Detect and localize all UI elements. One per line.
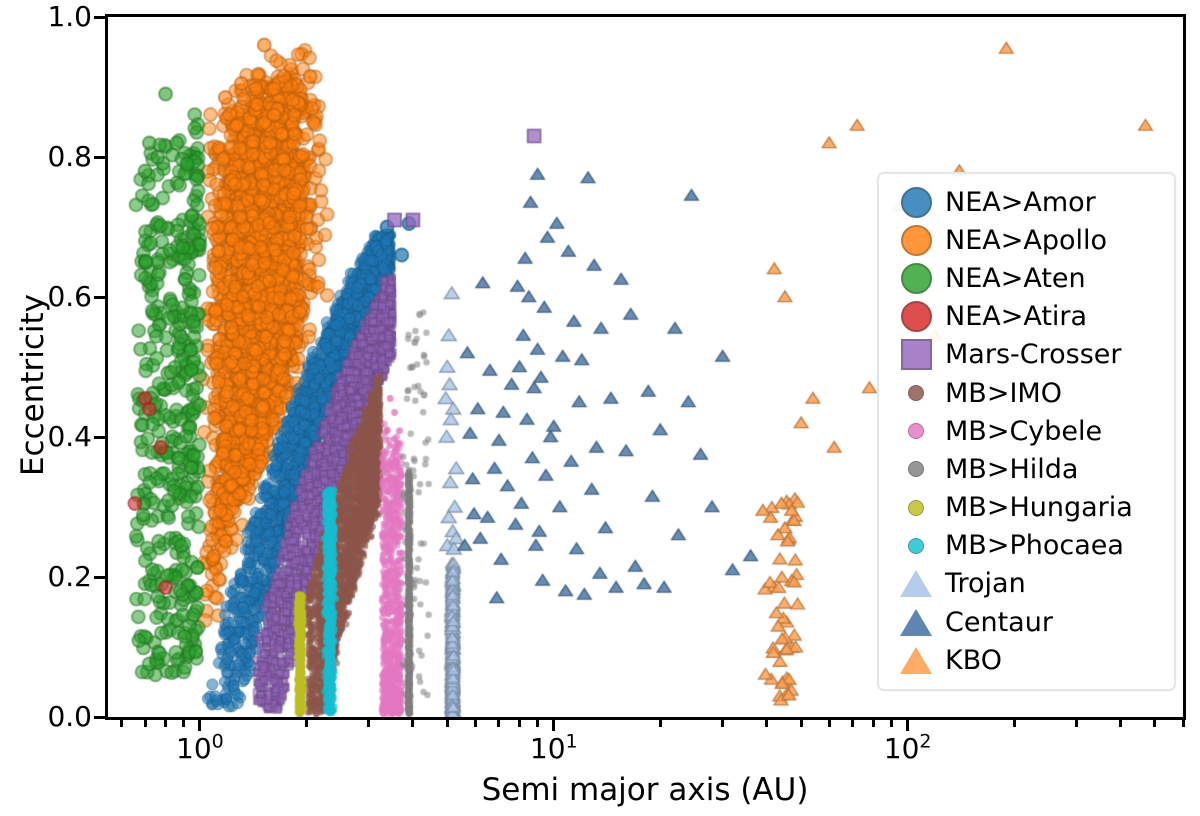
x-tick-minor xyxy=(536,720,539,727)
legend-item-mb-phocaea[interactable]: MB>Phocaea xyxy=(889,527,1164,565)
circle-marker-icon xyxy=(889,423,943,439)
x-tick-minor xyxy=(446,720,449,727)
legend-item-mb-hilda[interactable]: MB>Hilda xyxy=(889,450,1164,488)
legend-label: MB>Hungaria xyxy=(943,494,1133,521)
legend[interactable]: NEA>AmorNEA>ApolloNEA>AtenNEA>AtiraMars-… xyxy=(877,172,1176,691)
y-tick-label: 0.0 xyxy=(47,703,92,731)
legend-label: MB>Phocaea xyxy=(943,532,1124,559)
circle-marker-icon xyxy=(889,538,943,554)
y-tick-major xyxy=(94,296,105,299)
circle-marker-icon xyxy=(889,500,943,516)
x-tick-minor xyxy=(164,720,167,727)
x-tick-minor xyxy=(411,720,414,727)
x-tick-minor xyxy=(182,720,185,727)
y-tick-label: 0.2 xyxy=(47,563,92,591)
x-tick-minor xyxy=(305,720,308,727)
y-tick-label: 0.6 xyxy=(47,283,92,311)
x-tick-minor xyxy=(518,720,521,727)
legend-label: NEA>Amor xyxy=(943,189,1096,216)
legend-label: Mars-Crosser xyxy=(943,341,1121,368)
x-tick-minor xyxy=(800,720,803,727)
y-tick-major xyxy=(94,576,105,579)
legend-item-centaur[interactable]: Centaur xyxy=(889,603,1164,641)
x-tick-minor xyxy=(1119,720,1122,727)
x-tick-minor xyxy=(1013,720,1016,727)
legend-item-nea-atira[interactable]: NEA>Atira xyxy=(889,298,1164,336)
legend-item-nea-apollo[interactable]: NEA>Apollo xyxy=(889,221,1164,259)
circle-marker-icon xyxy=(889,301,943,332)
x-tick-label: 101 xyxy=(530,735,578,763)
y-tick-major xyxy=(94,716,105,719)
x-tick-minor xyxy=(144,720,147,727)
triangle-marker-icon xyxy=(889,570,943,597)
legend-label: MB>Cybele xyxy=(943,418,1102,445)
legend-label: Trojan xyxy=(943,570,1026,597)
y-axis-label: Eccentricity xyxy=(15,185,51,585)
x-tick-major xyxy=(906,720,909,731)
triangle-marker-icon xyxy=(889,609,943,636)
x-tick-minor xyxy=(474,720,477,727)
legend-item-mb-imo[interactable]: MB>IMO xyxy=(889,374,1164,412)
circle-marker-icon xyxy=(889,263,943,294)
triangle-marker-icon xyxy=(889,647,943,674)
legend-label: Centaur xyxy=(943,609,1053,636)
x-tick-minor xyxy=(872,720,875,727)
x-tick-minor xyxy=(120,720,123,727)
x-tick-major xyxy=(198,720,201,731)
square-marker-icon xyxy=(889,339,943,370)
x-tick-minor xyxy=(851,720,854,727)
legend-item-mars-crosser[interactable]: Mars-Crosser xyxy=(889,336,1164,374)
x-tick-minor xyxy=(497,720,500,727)
x-tick-minor xyxy=(367,720,370,727)
y-tick-major xyxy=(94,16,105,19)
legend-item-trojan[interactable]: Trojan xyxy=(889,565,1164,603)
y-tick-label: 0.8 xyxy=(47,143,92,171)
x-tick-minor xyxy=(1075,720,1078,727)
legend-item-nea-aten[interactable]: NEA>Aten xyxy=(889,259,1164,297)
y-tick-label: 0.4 xyxy=(47,423,92,451)
x-tick-label: 102 xyxy=(884,735,932,763)
legend-label: NEA>Aten xyxy=(943,265,1086,292)
legend-label: MB>Hilda xyxy=(943,456,1078,483)
legend-label: MB>IMO xyxy=(943,380,1062,407)
x-tick-label: 100 xyxy=(176,735,224,763)
legend-label: KBO xyxy=(943,647,1002,674)
x-tick-minor xyxy=(659,720,662,727)
circle-marker-icon xyxy=(889,225,943,256)
legend-label: NEA>Apollo xyxy=(943,227,1107,254)
y-tick-major xyxy=(94,156,105,159)
legend-item-kbo[interactable]: KBO xyxy=(889,641,1164,679)
y-tick-major xyxy=(94,436,105,439)
x-tick-minor xyxy=(828,720,831,727)
x-tick-minor xyxy=(890,720,893,727)
x-tick-minor xyxy=(721,720,724,727)
x-tick-minor xyxy=(1182,720,1185,727)
y-tick-label: 1.0 xyxy=(47,3,92,31)
x-tick-major xyxy=(552,720,555,731)
x-tick-minor xyxy=(765,720,768,727)
x-tick-minor xyxy=(1153,720,1156,727)
chart-root: 100101102 0.00.20.40.60.81.0 Semi major … xyxy=(0,0,1200,816)
legend-item-nea-amor[interactable]: NEA>Amor xyxy=(889,183,1164,221)
legend-item-mb-cybele[interactable]: MB>Cybele xyxy=(889,412,1164,450)
legend-label: NEA>Atira xyxy=(943,303,1087,330)
circle-marker-icon xyxy=(889,385,943,401)
legend-item-mb-hungaria[interactable]: MB>Hungaria xyxy=(889,489,1164,527)
circle-marker-icon xyxy=(889,187,943,218)
circle-marker-icon xyxy=(889,461,943,477)
x-axis-label: Semi major axis (AU) xyxy=(482,772,809,808)
